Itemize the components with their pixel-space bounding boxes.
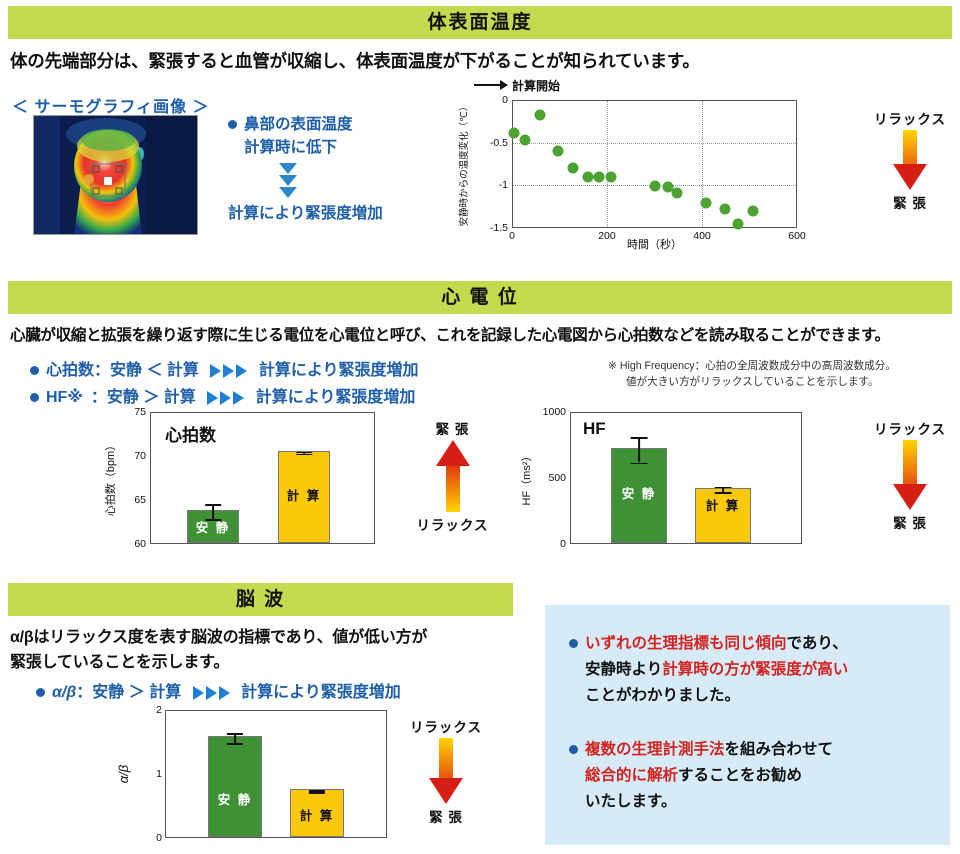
bullet-dot-icon (30, 366, 39, 375)
hf-chart-title: HF (583, 419, 606, 439)
error-bar-cap (205, 519, 221, 521)
triangle-down-icon-1 (279, 163, 297, 174)
nose-bullet-1: 鼻部の表面温度 (244, 116, 353, 133)
skin-temp-conclusion: 計算により緊張度増加 (228, 202, 443, 225)
conclusion-item-1: いずれの生理指標も同じ傾向であり、 安静時より計算時の方が緊張度が高い ことがわ… (569, 631, 939, 709)
eeg-arrow-top-label: リラックス (398, 716, 494, 736)
hf-ytick-1000: 1000 (543, 406, 566, 418)
triangle-right-icon (223, 364, 234, 378)
scatter-x-axis-label: 時間（秒） (512, 236, 797, 252)
triangle-right-icon (233, 391, 244, 405)
bar-label-calc: 計 算 (291, 805, 343, 824)
scatter-point (519, 135, 530, 146)
scatter-point (747, 206, 758, 217)
conclusion-2-red-1: 複数の生理計測手法 (585, 741, 725, 758)
calc-start-annotation: 計算開始 (474, 77, 560, 94)
bar-label-calc: 計 算 (279, 485, 329, 504)
ecg-bullet-1-metric: 心拍数 (46, 362, 94, 379)
alpha-beta-bar-chart: 安 静計 算 0 1 2 α/β (100, 706, 420, 854)
hf-footnote-line1: ※ High Frequency：心拍の全周波数成分中の高周波数成分。 (608, 358, 958, 374)
ytick-0: 0 (502, 94, 508, 106)
scatter-point (606, 171, 617, 182)
scatter-point (733, 219, 744, 230)
arrow-down-icon (868, 440, 952, 510)
conclusion-1-red-1: いずれの生理指標も同じ傾向 (585, 635, 787, 652)
triangle-right-icon (210, 364, 221, 378)
triangle-right-icon (219, 686, 230, 700)
scatter-plot-area (512, 100, 797, 228)
bullet-dot-icon (36, 688, 45, 697)
hf-bar-chart: HF 安 静計 算 0 500 1000 HF（ms²） (508, 408, 838, 563)
hf-plot-area: HF 安 静計 算 (570, 412, 802, 544)
hf-ytick-500: 500 (548, 472, 566, 484)
eeg-description-line1: α/βはリラックス度を表す脳波の指標であり、値が低い方が (10, 625, 520, 650)
hf-arrow-bottom-label: 緊 張 (868, 512, 952, 532)
bar-rest: 安 静 (208, 736, 262, 837)
relax-tension-arrow-hf: リラックス 緊 張 (868, 418, 952, 532)
hf-footnote: ※ High Frequency：心拍の全周波数成分中の高周波数成分。 値が大き… (608, 358, 958, 390)
hr-ytick-70: 70 (134, 450, 146, 462)
eeg-bullet: α/β：安静 ＞ 計算 計算により緊張度増加 (36, 678, 401, 702)
alpha-beta-y-axis-label: α/β (116, 710, 131, 838)
triangle-right-icon (236, 364, 247, 378)
hr-ytick-75: 75 (134, 406, 146, 418)
scatter-point (509, 127, 520, 138)
scatter-point (701, 197, 712, 208)
error-bar-cap (227, 743, 243, 745)
calc-start-label: 計算開始 (512, 79, 560, 93)
bar-label-rest: 安 静 (209, 789, 261, 808)
tension-relax-arrow-heart-rate: 緊 張 リラックス (400, 418, 505, 534)
thermography-image (33, 115, 198, 235)
eeg-bullet-result: 計算により緊張度増加 (241, 684, 401, 701)
nose-temperature-bullets: 鼻部の表面温度 計算時に低下 計算により緊張度増加 (228, 113, 443, 225)
conclusion-2-red-2: 総合的に解析 (585, 767, 678, 784)
bar-calc: 計 算 (695, 488, 751, 543)
scatter-point (568, 163, 579, 174)
error-bar-cap (309, 790, 325, 792)
scatter-point (649, 180, 660, 191)
scatter-point (720, 203, 731, 214)
bar-calc: 計 算 (278, 451, 330, 543)
ab-ytick-0: 0 (156, 832, 162, 844)
scatter-point (672, 188, 683, 199)
heart-rate-y-axis-label: 心拍数（bpm） (102, 412, 118, 544)
triangle-right-icon (220, 391, 231, 405)
hf-footnote-line2: 値が大きい方がリラックスしていることを示します。 (608, 374, 958, 390)
ytick-minus05: -0.5 (490, 137, 508, 149)
error-bar-cap (296, 454, 312, 456)
hr-arrow-bottom-label: リラックス (400, 514, 505, 534)
relax-tension-arrow-eeg: リラックス 緊 張 (398, 716, 494, 826)
eeg-description-line2: 緊張していることを示します。 (10, 650, 520, 675)
error-bar-cap (715, 487, 732, 489)
conclusion-1-black-3: ことがわかりました。 (585, 687, 740, 704)
error-bar-cap (631, 437, 648, 439)
gridline-x-200 (607, 101, 608, 227)
arrow-up-icon (400, 440, 505, 512)
skin-temperature-scatter-chart: 計算開始 安静時からの温度変化（℃） 0 -0.5 -1 -1.5 0 200 … (460, 78, 860, 253)
ecg-bullet-1: 心拍数：安静 ＜ 計算 計算により緊張度増加 (30, 356, 419, 380)
section-banner-eeg: 脳 波 (8, 583, 513, 616)
heart-rate-bar-chart: 心拍数 安 静計 算 60 65 70 75 心拍数（bpm） (90, 408, 420, 563)
ecg-bullet-2: HF※：安静 ＞ 計算 計算により緊張度増加 (30, 383, 415, 407)
triangle-right-icon (206, 686, 217, 700)
ab-ytick-1: 1 (156, 768, 162, 780)
arrow-down-icon (398, 738, 494, 804)
ecg-bullet-2-metric: HF※ (46, 389, 83, 406)
ecg-bullet-2-relation: ：安静 ＞ 計算 (91, 389, 196, 406)
conclusion-2-black-3: いたします。 (585, 793, 676, 810)
ytick-minus1: -1 (499, 179, 508, 191)
scatter-point (582, 171, 593, 182)
eeg-bullet-metric: α/β (52, 684, 76, 701)
bar-label-calc: 計 算 (696, 495, 750, 514)
eeg-bullet-relation: ：安静 ＞ 計算 (76, 684, 181, 701)
bullet-dot-icon (569, 745, 578, 754)
conclusion-2-black-1: を組み合わせて (725, 741, 834, 758)
error-bar-cap (227, 733, 243, 735)
section-banner-skin-temperature: 体表面温度 (8, 6, 952, 39)
gridline-y-minus05 (513, 143, 796, 144)
error-bar (212, 504, 214, 519)
triangle-down-icon-2 (279, 175, 297, 186)
thermography-title: ＜ サーモグラフィ画像 ＞ (12, 93, 210, 117)
eeg-arrow-bottom-label: 緊 張 (398, 806, 494, 826)
eeg-description: α/βはリラックス度を表す脳波の指標であり、値が低い方が 緊張していることを示し… (10, 625, 520, 675)
triangle-right-group-1 (209, 362, 248, 379)
bullet-dot-icon (569, 639, 578, 648)
bar-label-rest: 安 静 (612, 483, 666, 502)
hf-arrow-top-label: リラックス (868, 418, 952, 438)
hr-ytick-65: 65 (134, 494, 146, 506)
triangle-right-icon (207, 391, 218, 405)
ecg-bullet-1-relation: ：安静 ＜ 計算 (94, 362, 199, 379)
scatter-point (552, 145, 563, 156)
triangle-right-group-2 (206, 389, 245, 406)
skin-temperature-description: 体の先端部分は、緊張すると血管が収縮し、体表面温度が下がることが知られています。 (10, 48, 950, 73)
hr-ytick-60: 60 (134, 538, 146, 550)
bar-calc: 計 算 (290, 789, 344, 837)
scatter-y-ticks: 0 -0.5 -1 -1.5 (460, 100, 508, 228)
ecg-bullet-1-result: 計算により緊張度増加 (259, 362, 419, 379)
error-bar-cap (309, 792, 325, 794)
heart-rate-chart-title: 心拍数 (165, 421, 216, 446)
ecg-bullet-2-result: 計算により緊張度増加 (256, 389, 416, 406)
nose-bullet-2: 計算時に低下 (228, 136, 443, 159)
conclusion-1-red-2: 計算時の方が緊張度が高い (662, 661, 848, 678)
relax-tension-arrow-skin: リラックス 緊 張 (868, 108, 952, 212)
ecg-description: 心臓が収縮と拡張を繰り返す際に生じる電位を心電位と呼び、これを記録した心電図から… (10, 323, 955, 345)
triangle-right-group-3 (192, 684, 231, 701)
hf-ytick-0: 0 (560, 538, 566, 550)
triangle-down-icon-3 (279, 187, 297, 198)
scatter-point (593, 171, 604, 182)
heart-rate-plot-area: 心拍数 安 静計 算 (150, 412, 375, 544)
ab-ytick-2: 2 (156, 704, 162, 716)
hr-arrow-top-label: 緊 張 (400, 418, 505, 438)
scatter-point (535, 110, 546, 121)
section-banner-ecg: 心 電 位 (8, 281, 952, 314)
alpha-beta-plot-area: 安 静計 算 (165, 710, 387, 838)
arrow-top-label-relax: リラックス (868, 108, 952, 128)
conclusion-item-2: 複数の生理計測手法を組み合わせて 総合的に解析することをお勧め いたします。 (569, 737, 939, 815)
error-bar (638, 437, 640, 462)
arrow-bottom-label-tension: 緊 張 (868, 192, 952, 212)
conclusion-2-black-2: することをお勧め (678, 767, 802, 784)
error-bar-cap (715, 492, 732, 494)
ytick-minus15: -1.5 (490, 222, 508, 234)
error-bar-cap (205, 504, 221, 506)
conclusion-1-black-1: であり、 (787, 635, 848, 652)
bullet-dot-icon (30, 393, 39, 402)
hf-y-axis-label: HF（ms²） (518, 412, 534, 544)
bullet-dot-icon (228, 120, 237, 129)
conclusion-box: いずれの生理指標も同じ傾向であり、 安静時より計算時の方が緊張度が高い ことがわ… (545, 605, 950, 845)
gridline-x-400 (702, 101, 703, 227)
arrow-down-icon (868, 130, 952, 190)
triangle-right-icon (193, 686, 204, 700)
error-bar-cap (631, 463, 648, 465)
conclusion-1-black-2: 安静時より (585, 661, 662, 678)
